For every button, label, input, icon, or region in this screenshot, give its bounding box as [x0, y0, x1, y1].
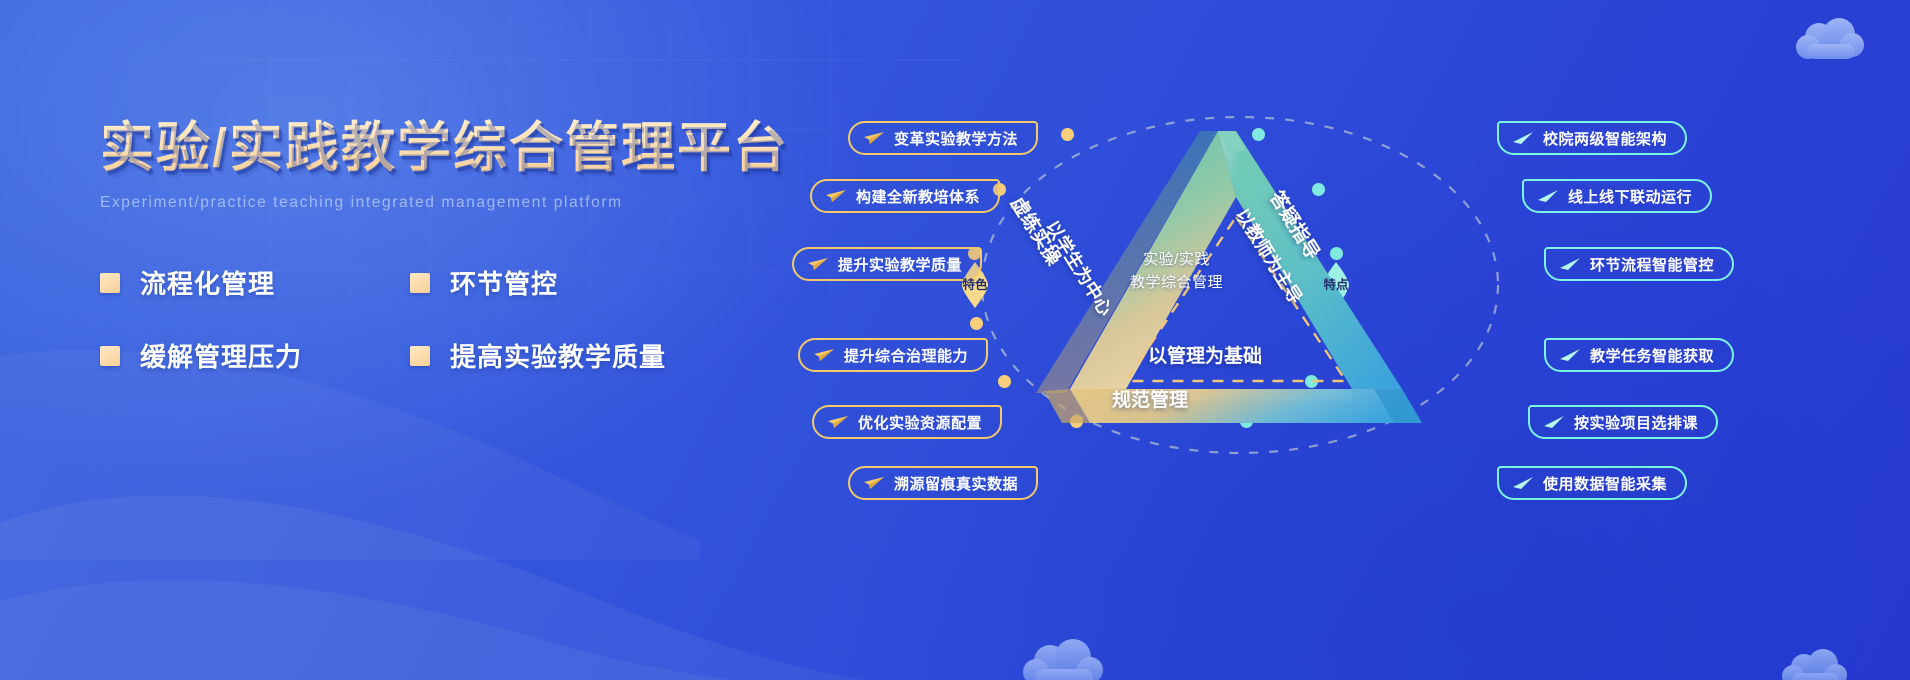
feature-pill-left-4[interactable]: 提升综合治理能力	[798, 338, 988, 372]
hero-text-block: 实验/实践教学综合管理平台 Experiment/practice teachi…	[100, 118, 800, 374]
group-marker-right-label: 特点	[1323, 279, 1348, 292]
page-title: 实验/实践教学综合管理平台	[100, 118, 800, 178]
bullet-label: 提高实验教学质量	[450, 337, 666, 374]
paper-plane-icon	[1559, 257, 1581, 271]
feature-pill-right-2[interactable]: 线上线下联动运行	[1522, 179, 1712, 213]
triangle-center-text: 实验/实践 教学综合管理	[1130, 248, 1223, 295]
cloud-icon-top-right	[1794, 18, 1868, 69]
orbit-label-bottom: 规范管理	[1112, 385, 1188, 412]
feature-pill-right-1[interactable]: 校院两级智能架构	[1497, 121, 1687, 155]
orbit-dot-gold	[998, 375, 1011, 388]
pill-label: 溯源留痕真实数据	[894, 473, 1018, 494]
paper-plane-icon	[1543, 415, 1565, 429]
cloud-icon-bottom	[1020, 639, 1108, 680]
pill-label: 提升综合治理能力	[844, 345, 968, 366]
feature-pill-right-3[interactable]: 环节流程智能管控	[1544, 247, 1734, 281]
paper-plane-icon	[863, 476, 885, 490]
feature-pill-right-6[interactable]: 使用数据智能采集	[1497, 466, 1687, 500]
list-item: 环节管控	[410, 264, 800, 301]
feature-pill-right-4[interactable]: 教学任务智能获取	[1544, 338, 1734, 372]
pill-label: 提升实验教学质量	[838, 254, 962, 275]
paper-plane-icon	[1537, 189, 1559, 203]
page-subtitle: Experiment/practice teaching integrated …	[100, 194, 800, 212]
pill-label: 变革实验教学方法	[894, 128, 1018, 149]
bullet-label: 缓解管理压力	[140, 337, 302, 374]
pill-label: 线上线下联动运行	[1568, 186, 1692, 207]
bullet-square-icon	[410, 346, 430, 366]
cloud-icon-bottom-right	[1780, 649, 1850, 680]
pill-label: 优化实验资源配置	[858, 412, 982, 433]
group-marker-left-label: 特色	[962, 279, 987, 292]
bullet-square-icon	[100, 346, 120, 366]
center-text-line-2: 教学综合管理	[1130, 271, 1223, 294]
concept-diagram: 特色 特点	[800, 95, 1910, 475]
feature-pill-left-2[interactable]: 构建全新教培体系	[810, 179, 1000, 213]
pill-label: 环节流程智能管控	[1590, 254, 1714, 275]
bullet-label: 流程化管理	[140, 264, 275, 301]
list-item: 流程化管理	[100, 264, 410, 301]
center-text-line-1: 实验/实践	[1130, 248, 1223, 271]
feature-pill-right-5[interactable]: 按实验项目选排课	[1528, 405, 1718, 439]
pill-label: 构建全新教培体系	[856, 186, 980, 207]
pill-label: 按实验项目选排课	[1574, 412, 1698, 433]
feature-bullet-list: 流程化管理 环节管控 缓解管理压力 提高实验教学质量	[100, 264, 800, 374]
paper-plane-icon	[827, 415, 849, 429]
feature-pill-left-5[interactable]: 优化实验资源配置	[812, 405, 1002, 439]
bullet-square-icon	[100, 273, 120, 293]
orbit-dot-gold	[970, 317, 983, 330]
list-item: 缓解管理压力	[100, 337, 410, 374]
pill-label: 校院两级智能架构	[1543, 128, 1667, 149]
paper-plane-icon	[813, 348, 835, 362]
feature-pill-left-1[interactable]: 变革实验教学方法	[848, 121, 1038, 155]
banner-stage: 实验/实践教学综合管理平台 Experiment/practice teachi…	[0, 0, 1910, 680]
bullet-square-icon	[410, 273, 430, 293]
paper-plane-icon	[863, 131, 885, 145]
paper-plane-icon	[1559, 348, 1581, 362]
feature-pill-left-6[interactable]: 溯源留痕真实数据	[848, 466, 1038, 500]
paper-plane-icon	[825, 189, 847, 203]
pill-label: 使用数据智能采集	[1543, 473, 1667, 494]
paper-plane-icon	[807, 257, 829, 271]
pill-label: 教学任务智能获取	[1590, 345, 1714, 366]
feature-pill-left-3[interactable]: 提升实验教学质量	[792, 247, 982, 281]
bullet-label: 环节管控	[450, 264, 558, 301]
triangle-bottom-side-label: 以管理为基础	[1148, 341, 1262, 368]
paper-plane-icon	[1512, 476, 1534, 490]
paper-plane-icon	[1512, 131, 1534, 145]
list-item: 提高实验教学质量	[410, 337, 800, 374]
